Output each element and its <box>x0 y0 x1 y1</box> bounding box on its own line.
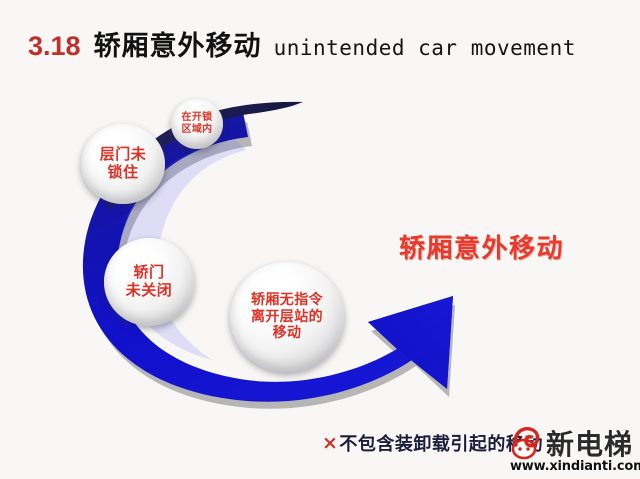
bubble-car-moves-without-command[interactable]: 轿厢无指令 离开层站的 移动 <box>230 262 344 372</box>
result-label: 轿厢意外移动 <box>399 228 564 265</box>
bubble-floor-door-unlocked[interactable]: 层门未 锁住 <box>81 124 165 204</box>
bubble-1-text: 层门未 锁住 <box>100 146 147 181</box>
bubble-3-text: 轿门 未关闭 <box>126 264 173 299</box>
bubble-2-text: 在开锁 区域内 <box>182 112 213 136</box>
watermark-brand: 新电梯 <box>546 423 633 463</box>
watermark: 新电梯 www.xindianti.com <box>502 424 638 476</box>
cross-icon: × <box>322 432 338 454</box>
brand-logo-icon <box>502 424 546 460</box>
bubble-in-unlocking-zone[interactable]: 在开锁 区域内 <box>171 99 223 149</box>
watermark-url: www.xindianti.com <box>510 459 640 474</box>
bubble-4-text: 轿厢无指令 离开层站的 移动 <box>251 292 323 342</box>
bubble-car-door-not-closed[interactable]: 轿门 未关闭 <box>104 238 194 326</box>
slide-canvas: 3.18 轿厢意外移动 unintended car movement <box>0 0 640 479</box>
